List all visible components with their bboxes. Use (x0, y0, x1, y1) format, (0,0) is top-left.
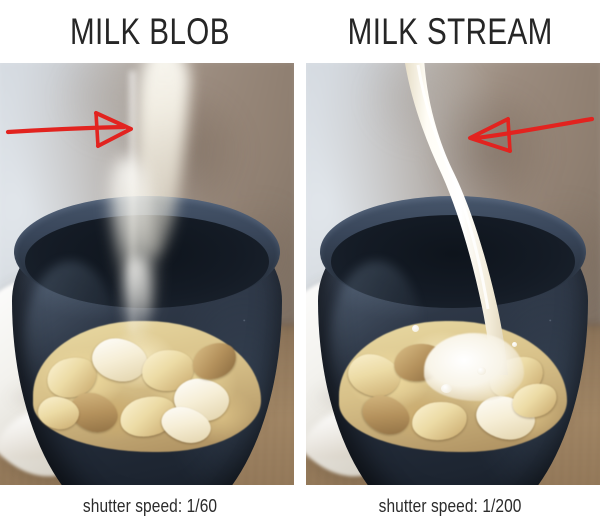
panel-caption-left: shutter speed: 1/60 (83, 497, 217, 515)
infographic-root: MILK BLOB MILK STREAM (0, 0, 600, 526)
panel-title-left: MILK BLOB (70, 13, 230, 50)
caption-cell-left: shutter speed: 1/60 (0, 485, 300, 526)
panel-title-right: MILK STREAM (347, 13, 552, 50)
panel-divider (294, 63, 306, 485)
photo-scene-right (306, 63, 600, 485)
photo-scene-left (0, 63, 294, 485)
captions-row: shutter speed: 1/60 shutter speed: 1/200 (0, 485, 600, 526)
title-cell-left: MILK BLOB (0, 0, 300, 63)
cereal-bowl-left (12, 202, 282, 485)
photo-panel-right (306, 63, 600, 485)
titles-row: MILK BLOB MILK STREAM (0, 0, 600, 63)
cereal-bowl-right (318, 202, 588, 485)
cereal-flake (357, 389, 415, 441)
title-cell-right: MILK STREAM (300, 0, 600, 63)
caption-cell-right: shutter speed: 1/200 (300, 485, 600, 526)
cereal-flake (89, 334, 151, 387)
panel-caption-right: shutter speed: 1/200 (379, 497, 522, 515)
cereal-flake (410, 399, 469, 444)
photo-panel-left (0, 63, 294, 485)
